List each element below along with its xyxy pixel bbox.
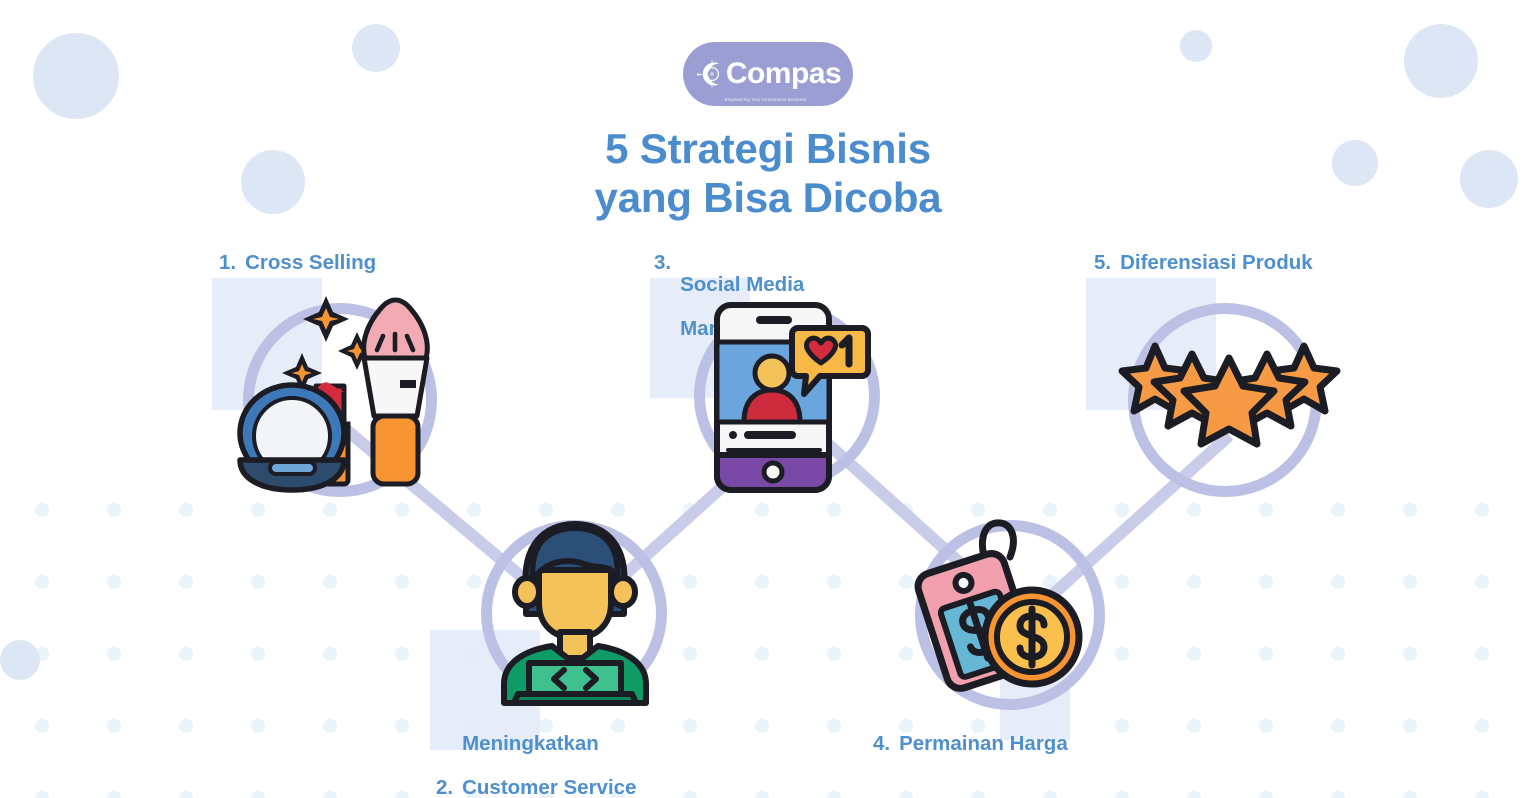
logo-wordmark: Compas [726,59,841,89]
title-line-1: 5 Strategi Bisnis [0,124,1536,173]
compass-icon: Empowering Your eCommerce Business [695,57,729,91]
decorative-circle [1404,24,1478,98]
brand-logo[interactable]: Empowering Your eCommerce Business Compa… [683,42,853,106]
node-label-4: 4. Permainan Harga [873,733,1068,755]
node-label-5: 5. Diferensiasi Produk [1094,252,1313,274]
dot-pattern [0,468,1536,798]
logo-tagline: Empowering Your eCommerce Business [725,97,807,102]
node-title-3-line1: Social Media [680,273,804,296]
node-title-2-line1: Meningkatkan [462,732,599,755]
node-number-1: 1. [219,252,236,274]
cosmetics-icon [240,288,455,493]
page-title: 5 Strategi Bisnis yang Bisa Dicoba [0,124,1536,222]
node-title-2: Meningkatkan Customer Service [462,711,636,798]
node-number-4: 4. [873,733,890,755]
node-title-1: Cross Selling [245,252,376,274]
node-label-1: 1. Cross Selling [219,252,376,274]
customer-service-agent-icon [500,518,650,703]
smartphone-social-post-icon [712,300,867,495]
node-label-2: 2. Meningkatkan Customer Service [436,711,636,798]
infographic-canvas: Empowering Your eCommerce Business Compa… [0,0,1536,798]
node-number-5: 5. [1094,252,1111,274]
node-title-2-line2: Customer Service [462,776,636,798]
node-title-4: Permainan Harga [899,733,1068,755]
five-stars-icon [1122,340,1337,450]
title-line-2: yang Bisa Dicoba [0,173,1536,222]
decorative-circle [0,640,40,680]
price-tag-coin-icon [912,515,1087,690]
decorative-circle [352,24,400,72]
decorative-circle [33,33,119,119]
decorative-circle [1180,30,1212,62]
node-title-5: Diferensiasi Produk [1120,252,1313,274]
node-number-2: 2. [436,777,453,798]
node-number-3: 3. [654,252,671,274]
makeup-brush [364,300,428,484]
compact-mirror [240,385,344,490]
